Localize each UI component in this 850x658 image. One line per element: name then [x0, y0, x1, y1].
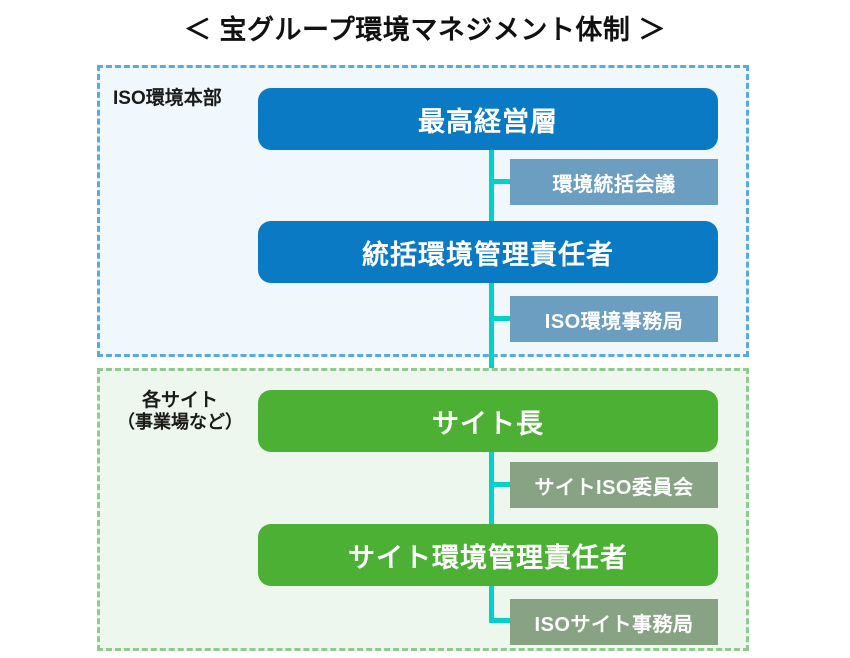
node-environment-general-meeting-label: 環境統括会議	[553, 168, 676, 197]
node-site-manager[interactable]: サイト長	[258, 390, 718, 452]
node-top-management-label: 最高経営層	[418, 100, 558, 139]
connector-branch-environment-general-meeting	[489, 179, 512, 184]
diagram-title: ＜ 宝グループ環境マネジメント体制 ＞	[0, 8, 850, 47]
node-site-environmental-manager-label: サイト環境管理責任者	[348, 536, 628, 575]
node-general-environmental-manager-label: 統括環境管理責任者	[362, 233, 614, 272]
section-label-site-line1: 各サイト	[142, 390, 218, 411]
node-site-iso-committee-label: サイトISO委員会	[535, 471, 694, 500]
connector-branch-iso-site-office	[489, 618, 512, 623]
node-top-management[interactable]: 最高経営層	[258, 88, 718, 150]
connector-branch-iso-environment-office	[489, 316, 512, 321]
node-site-iso-committee[interactable]: サイトISO委員会	[510, 462, 718, 508]
node-iso-environment-office-label: ISO環境事務局	[545, 305, 683, 334]
node-site-manager-label: サイト長	[432, 402, 544, 441]
node-site-environmental-manager[interactable]: サイト環境管理責任者	[258, 524, 718, 586]
connector-site-trunk-lower	[489, 583, 494, 623]
node-iso-environment-office[interactable]: ISO環境事務局	[510, 296, 718, 342]
section-label-corporate: ISO環境本部	[113, 88, 222, 110]
node-environment-general-meeting[interactable]: 環境統括会議	[510, 159, 718, 205]
node-iso-site-office-label: ISOサイト事務局	[535, 608, 694, 637]
connector-branch-site-iso-committee	[489, 482, 512, 487]
environmental-management-diagram: ＜ 宝グループ環境マネジメント体制 ＞ ISO環境本部 最高経営層 環境統括会議…	[0, 0, 850, 658]
node-iso-site-office[interactable]: ISOサイト事務局	[510, 599, 718, 645]
section-label-site: 各サイト （事業場など）	[117, 390, 243, 434]
section-label-site-line2: （事業場など）	[117, 412, 243, 433]
node-general-environmental-manager[interactable]: 統括環境管理責任者	[258, 221, 718, 283]
